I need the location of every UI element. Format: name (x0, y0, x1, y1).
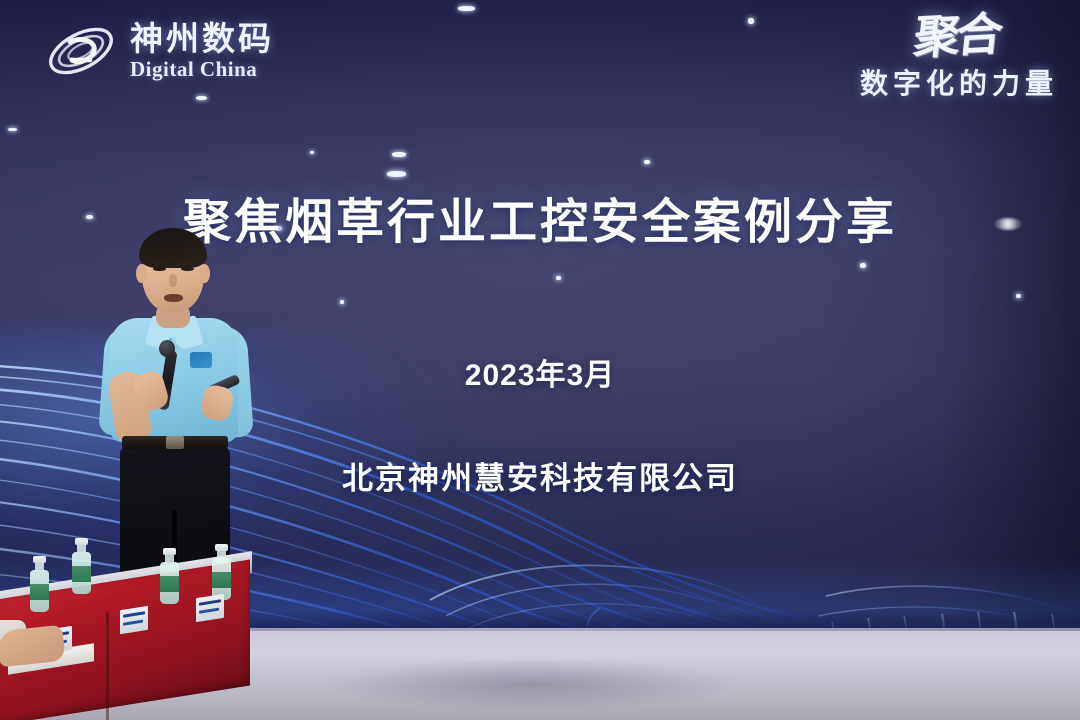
bottle-label (212, 572, 231, 588)
bottle-label (72, 566, 91, 582)
bottle-cap (33, 556, 46, 563)
bottle-neck (217, 551, 226, 558)
sparkle-particle (644, 160, 650, 164)
bottle-label (30, 584, 49, 600)
stage-floor-shadow (250, 660, 810, 720)
water-bottle (72, 538, 91, 594)
bottle-neck (165, 555, 174, 562)
water-bottle (160, 548, 179, 604)
ceiling-light-reflection (994, 218, 1022, 230)
bottle-neck (35, 563, 44, 570)
event-tagline: 数字化的力量 (860, 62, 1058, 102)
bottle-body (72, 552, 91, 594)
digital-china-logo: 神州数码 Digital China (44, 18, 274, 84)
screenshot-root: 神州数码 Digital China 聚合 数字化的力量 聚焦烟草行业工控安全案… (0, 0, 1080, 720)
speaker-belt-buckle (166, 436, 184, 449)
speaker-mouth (164, 294, 183, 302)
table-cloth-fold (106, 612, 109, 720)
speaker-chest-logo (190, 352, 212, 368)
event-brand-mark: 聚合 数字化的力量 (860, 16, 1058, 102)
brand-name-cn: 神州数码 (130, 22, 274, 55)
bottle-neck (77, 545, 86, 552)
sparkle-particle (387, 171, 406, 177)
brand-name-en: Digital China (130, 59, 274, 80)
sparkle-particle (556, 276, 561, 280)
bottle-body (160, 562, 179, 604)
speaker-ear-left (136, 264, 147, 283)
water-bottle (30, 556, 49, 612)
bottle-cap (75, 538, 88, 545)
speaker-eye-left (153, 267, 166, 271)
bottle-cap (163, 548, 176, 555)
bottle-cap (215, 544, 228, 551)
speaker-eye-right (181, 267, 194, 271)
event-calligraphy: 聚合 (857, 12, 1001, 63)
name-card (196, 594, 224, 622)
bottle-body (30, 570, 49, 612)
speaker-nose (169, 274, 177, 287)
bottle-label (160, 576, 179, 592)
digital-china-swirl-icon (44, 18, 118, 84)
water-bottle (212, 544, 231, 600)
speaker-hair (139, 228, 207, 268)
speaker-ear-right (199, 264, 210, 283)
name-card (120, 606, 148, 634)
